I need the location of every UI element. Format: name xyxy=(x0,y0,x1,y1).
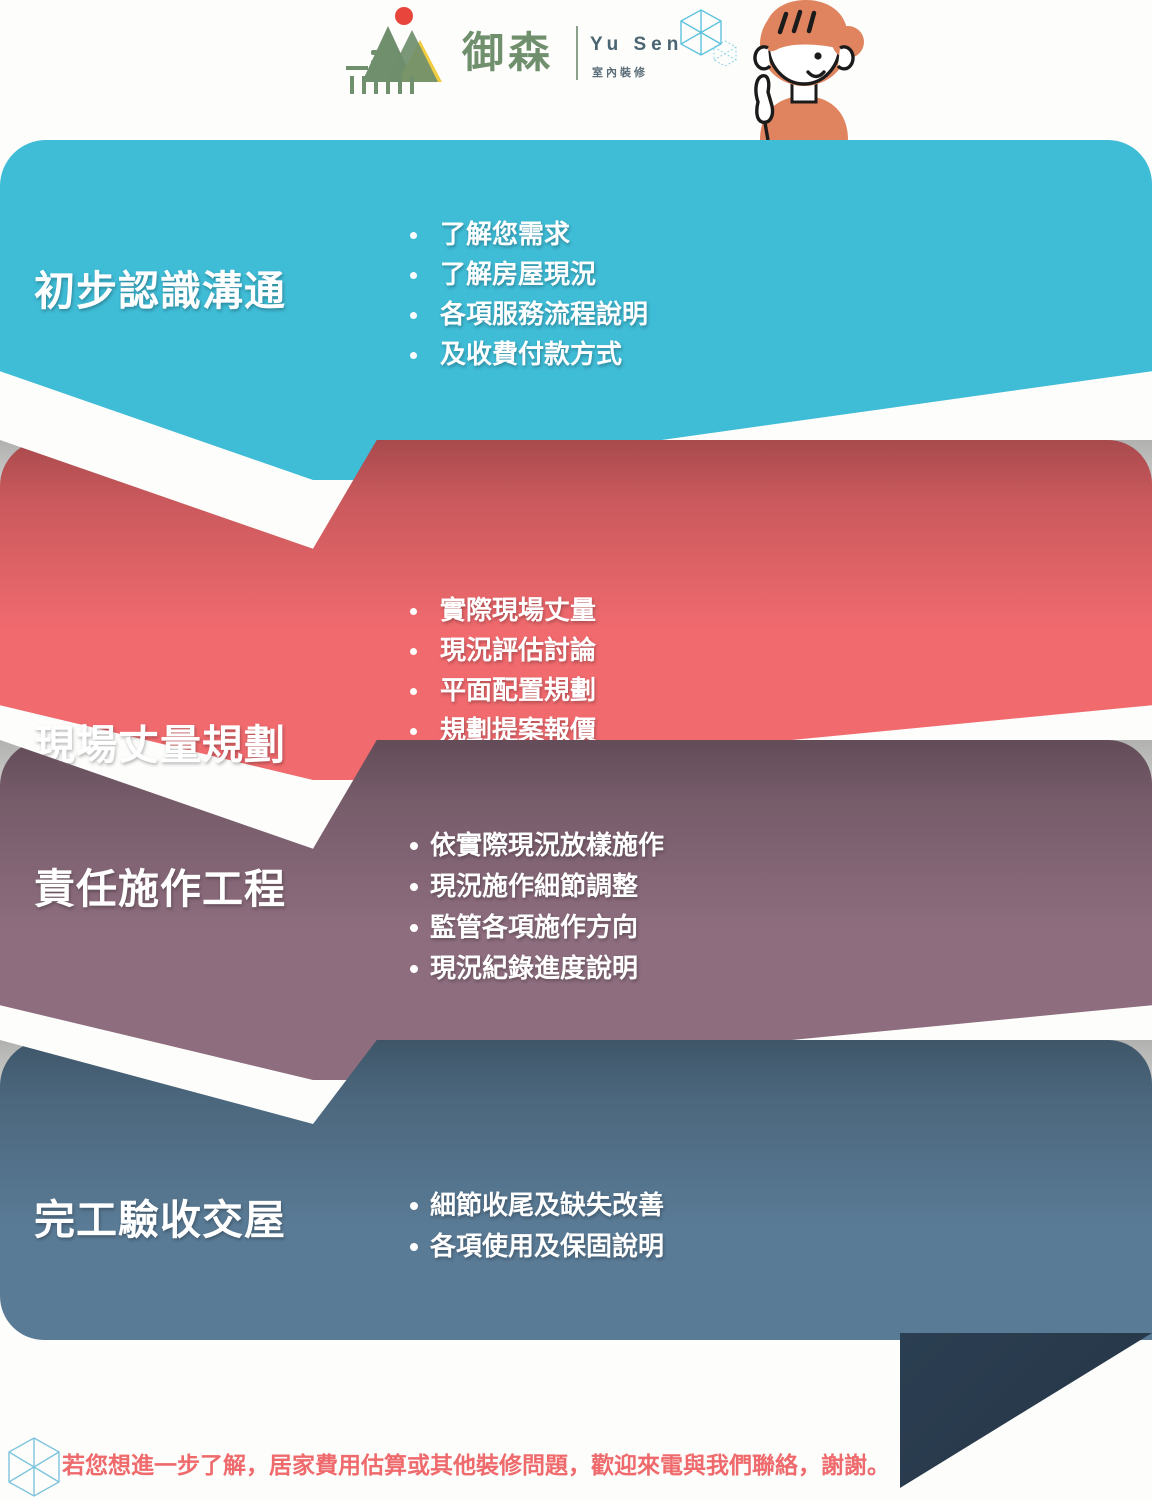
stage-panel-2: 現場丈量規劃 實際現場丈量 現況評估討論 平面配置規劃 規劃提案報價 討論平面圖… xyxy=(0,440,1152,780)
hexagon-cube-icon xyxy=(6,1436,62,1498)
logo-divider xyxy=(576,26,578,80)
list-item: 各項使用及保固說明 xyxy=(408,1226,664,1267)
list-item: 各項服務流程說明 xyxy=(400,294,648,334)
list-item: 實際現場丈量 xyxy=(400,590,752,630)
brand-header: 御森 Yu Sen 室內裝修 xyxy=(0,0,1152,140)
brand-latin-name: Yu Sen xyxy=(590,34,683,56)
footer-text: 若您想進一步了解，居家費用估算或其他裝修問題，歡迎來電與我們聯絡，謝謝。 xyxy=(62,1448,890,1482)
stage-4-left-shape xyxy=(0,1040,313,1340)
stage-panel-3: 責任施作工程 依實際現況放樣施作 現況施作細節調整 監管各項施作方向 現況紀錄進… xyxy=(0,740,1152,1080)
mountain-forest-logo-icon xyxy=(338,6,458,98)
list-item: 依實際現況放樣施作 xyxy=(408,825,664,866)
stage-3-bullet-list: 依實際現況放樣施作 現況施作細節調整 監管各項施作方向 現況紀錄進度說明 xyxy=(408,825,664,989)
brand-wordmark: 御森 xyxy=(462,28,554,78)
stage-panel-4: 完工驗收交屋 細節收尾及缺失改善 各項使用及保固說明 xyxy=(0,1040,1152,1340)
list-item: 現況評估討論 xyxy=(400,630,752,670)
list-item: 現況紀錄進度說明 xyxy=(408,948,664,989)
list-item: 了解您需求 xyxy=(400,214,648,254)
stage-panel-1: 初步認識溝通 了解您需求 了解房屋現況 各項服務流程說明 及收費付款方式 xyxy=(0,140,1152,480)
process-stage-list: 初步認識溝通 了解您需求 了解房屋現況 各項服務流程說明 及收費付款方式 現場丈… xyxy=(0,140,1152,1340)
stage-1-bullet-list: 了解您需求 了解房屋現況 各項服務流程說明 及收費付款方式 xyxy=(400,214,648,374)
list-item: 監管各項施作方向 xyxy=(408,907,664,948)
pointing-person-illustration xyxy=(724,0,884,140)
list-item: 現況施作細節調整 xyxy=(408,866,664,907)
footer-contact-note: 若您想進一步了解，居家費用估算或其他裝修問題，歡迎來電與我們聯絡，謝謝。 xyxy=(0,1434,1152,1500)
list-item: 細節收尾及缺失改善 xyxy=(408,1185,664,1226)
list-item: 了解房屋現況 xyxy=(400,254,648,294)
stage-4-title: 完工驗收交屋 xyxy=(12,1196,308,1244)
stage-4-title-column xyxy=(0,1040,313,1340)
brand-subtitle: 室內裝修 xyxy=(592,64,648,80)
stage-3-title: 責任施作工程 xyxy=(12,865,308,913)
stage-1-title: 初步認識溝通 xyxy=(12,267,308,315)
list-item: 及收費付款方式 xyxy=(400,334,648,374)
stage-4-bullet-list: 細節收尾及缺失改善 各項使用及保固說明 xyxy=(408,1185,664,1267)
list-item: 平面配置規劃 xyxy=(400,670,752,710)
infographic-page: 御森 Yu Sen 室內裝修 xyxy=(0,0,1152,1500)
